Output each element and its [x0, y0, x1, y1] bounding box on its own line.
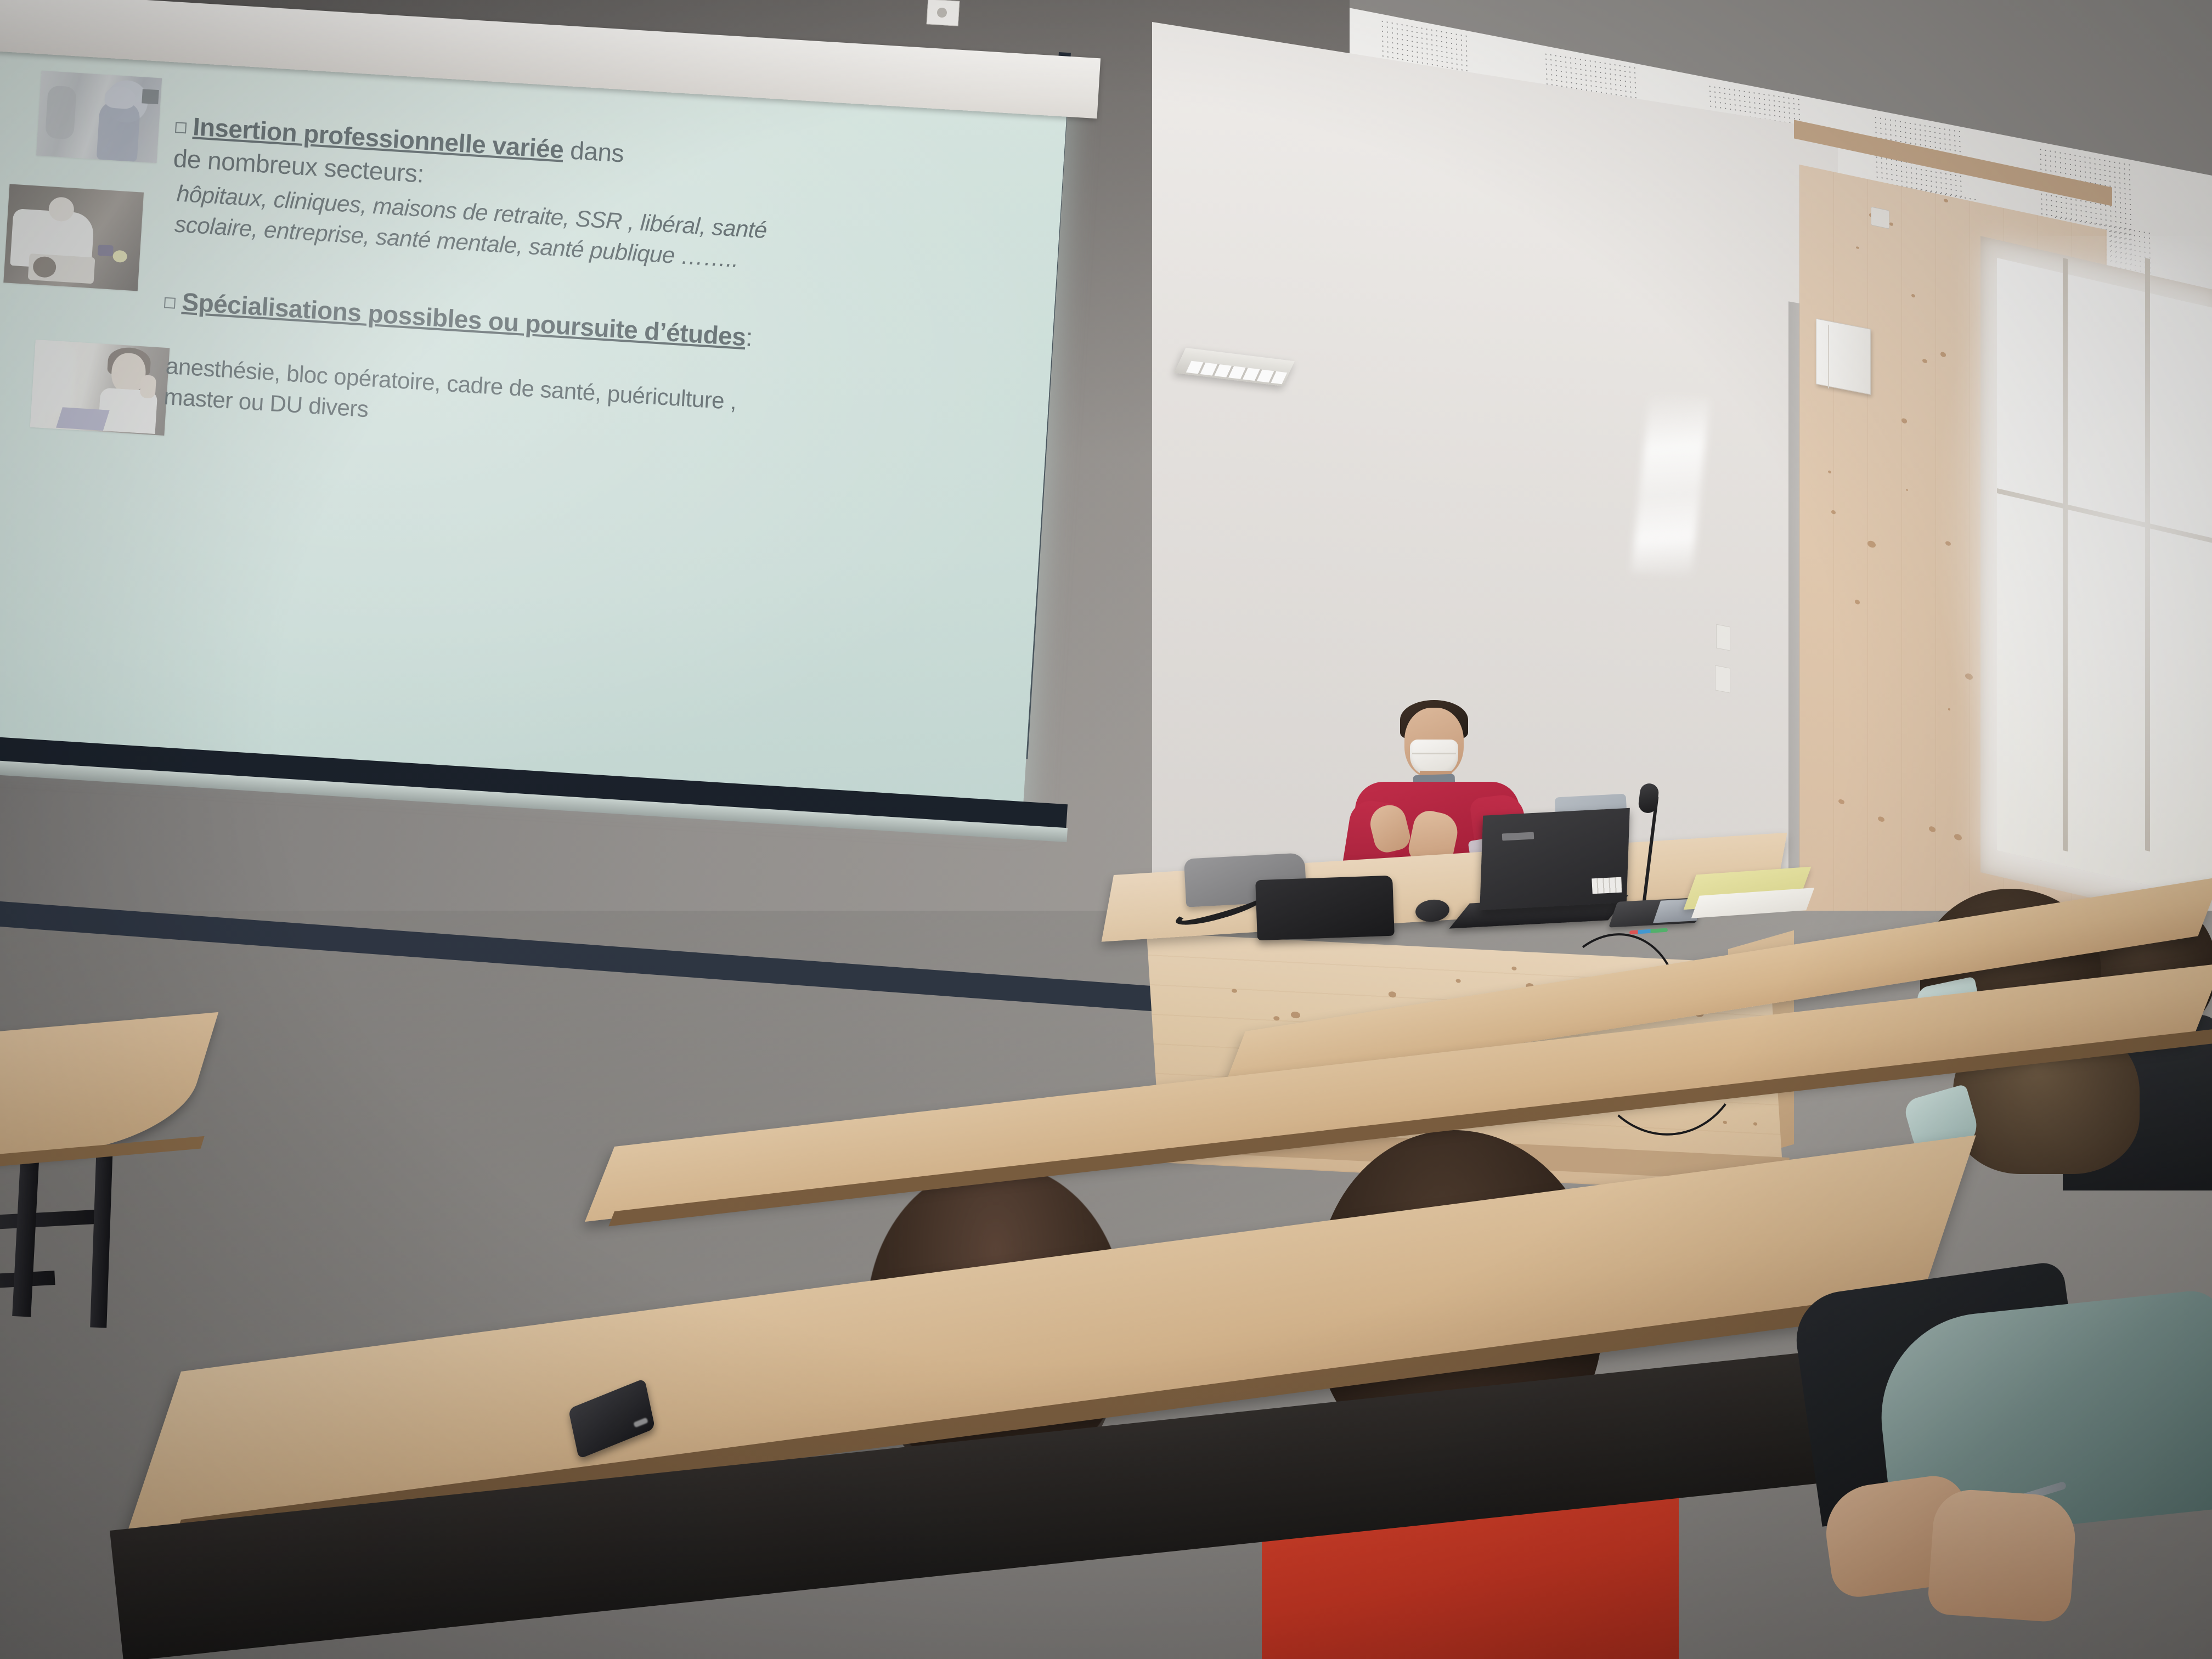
wall-mounted-white-box	[1816, 318, 1871, 394]
square-bullet-icon-2	[164, 297, 176, 309]
presenter-mask-fold	[1412, 753, 1456, 754]
wood-knot	[1922, 358, 1928, 364]
light-switch-upper[interactable]	[1716, 624, 1730, 651]
wood-knot	[1856, 246, 1859, 249]
wood-knot	[1828, 470, 1831, 473]
wood-knot	[1878, 816, 1884, 822]
bullet-2-heading-tail: :	[745, 323, 754, 352]
window-mullion-vertical-2	[2145, 258, 2150, 851]
wood-knot	[1906, 489, 1908, 491]
slide-bullet-2: Spécialisations possibles ou poursuite d…	[163, 285, 768, 356]
window-glass	[1997, 258, 2212, 901]
desk-wood-knot	[1511, 967, 1517, 971]
black-laptop-bag[interactable]	[1255, 876, 1395, 941]
wood-knot	[1911, 294, 1915, 297]
wood-knot	[1948, 708, 1950, 710]
desk-wood-knot	[1291, 1011, 1301, 1018]
lenovo-laptop[interactable]	[1480, 808, 1630, 911]
desk-wood-knot	[1273, 1016, 1280, 1021]
slide-content: Insertion professionnelle variée dans de…	[0, 30, 1068, 817]
wood-knot	[1945, 540, 1951, 546]
square-bullet-icon	[175, 122, 187, 133]
wood-knot	[1855, 600, 1860, 605]
student-right-hand	[1927, 1487, 2078, 1623]
window-mullion-vertical	[2063, 258, 2068, 851]
white-box-seam	[1828, 325, 1829, 388]
wood-knot	[1965, 673, 1973, 680]
desk-wood-knot	[1455, 979, 1460, 983]
wood-knot	[1889, 222, 1893, 226]
wood-knot	[1954, 833, 1962, 841]
wood-knot	[1867, 540, 1876, 549]
light-switch-lower[interactable]	[1715, 665, 1730, 693]
desk-wood-knot	[1232, 989, 1237, 993]
wood-knot	[1944, 199, 1948, 203]
classroom-photo: Insertion professionnelle variée dans de…	[0, 0, 2212, 1659]
bullet-1-heading-tail: dans	[563, 136, 625, 168]
desk-wood-knot	[1753, 1122, 1757, 1126]
operating-room-photo	[36, 71, 162, 163]
desk-wood-knot	[1388, 991, 1396, 998]
wood-knot	[1831, 510, 1836, 515]
slide-bullet-2-body: anesthésie, bloc opératoire, cadre de sa…	[163, 351, 764, 450]
wood-knot	[1901, 418, 1908, 424]
neonatal-nurse-photo	[3, 184, 144, 291]
wall-socket[interactable]	[1871, 206, 1889, 229]
bullet-2-heading: Spécialisations possibles ou poursuite d…	[181, 287, 747, 352]
desk-wood-knot	[1723, 1121, 1727, 1124]
wood-knot	[1838, 799, 1844, 805]
nurse-on-phone-photo	[30, 340, 170, 436]
small-white-device[interactable]	[1592, 877, 1622, 894]
wood-knot	[1929, 826, 1936, 832]
wood-knot	[1940, 352, 1946, 358]
